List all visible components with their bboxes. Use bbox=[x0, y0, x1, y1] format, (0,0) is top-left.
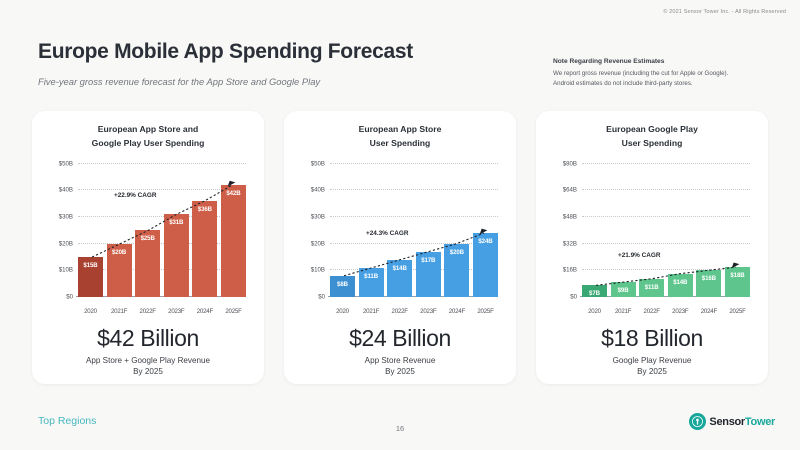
y-axis-tick-label: $0 bbox=[570, 293, 582, 300]
x-axis-tick-label: 2022F bbox=[387, 308, 412, 315]
x-axis-tick-label: 2025F bbox=[473, 308, 498, 315]
bar[interactable]: $25B bbox=[135, 230, 160, 297]
chart-card-title: European App StoreUser Spending bbox=[359, 123, 442, 151]
headline-number: $24 Billion bbox=[349, 325, 451, 352]
bar[interactable]: $36B bbox=[192, 201, 217, 297]
bar-value-label: $25B bbox=[141, 235, 155, 242]
y-axis-tick-label: $64B bbox=[563, 187, 582, 194]
bar-value-label: $15B bbox=[83, 262, 97, 269]
note-line-1: We report gross revenue (including the c… bbox=[553, 69, 793, 79]
y-axis-tick-label: $50B bbox=[311, 160, 330, 167]
chart-card-title-line-2: User Spending bbox=[359, 137, 442, 151]
bar[interactable]: $17B bbox=[416, 252, 441, 297]
chart-card-title-line-1: European App Store and bbox=[92, 123, 205, 137]
y-axis-tick-label: $30B bbox=[59, 214, 78, 221]
bar[interactable]: $7B bbox=[582, 285, 607, 297]
note-title: Note Regarding Revenue Estimates bbox=[553, 58, 793, 65]
bar-value-label: $11B bbox=[645, 284, 659, 291]
sensor-tower-logo: SensorTower bbox=[689, 413, 775, 430]
x-axis-tick-label: 2022F bbox=[639, 308, 664, 315]
cagr-annotation: +24.3% CAGR bbox=[366, 230, 408, 237]
sensor-tower-logo-icon bbox=[689, 413, 706, 430]
bar[interactable]: $14B bbox=[387, 260, 412, 297]
y-axis-tick-label: $20B bbox=[59, 240, 78, 247]
bar[interactable]: $18B bbox=[725, 267, 750, 297]
bar-value-label: $14B bbox=[673, 279, 687, 286]
y-axis-tick-label: $0 bbox=[66, 293, 78, 300]
bar-value-label: $24B bbox=[478, 238, 492, 245]
bar-value-label: $9B bbox=[618, 287, 629, 294]
headline-caption-year: By 2025 bbox=[385, 367, 415, 376]
logo-word-tower: Tower bbox=[745, 416, 775, 428]
cagr-annotation: +22.9% CAGR bbox=[114, 192, 156, 199]
bar[interactable]: $31B bbox=[164, 214, 189, 296]
x-axis-tick-label: 2023F bbox=[668, 308, 693, 315]
chart-plot-area: $0$16B$32B$48B$64B$80B$7B$9B$11B$14B$16B… bbox=[546, 156, 758, 319]
bar[interactable]: $15B bbox=[78, 257, 103, 297]
headline-number: $42 Billion bbox=[97, 325, 199, 352]
bar[interactable]: $20B bbox=[107, 244, 132, 297]
bar[interactable]: $9B bbox=[611, 282, 636, 297]
logo-wordmark: SensorTower bbox=[709, 416, 775, 428]
bar-value-label: $17B bbox=[421, 257, 435, 264]
bar[interactable]: $11B bbox=[359, 268, 384, 297]
revenue-estimates-note: Note Regarding Revenue Estimates We repo… bbox=[553, 58, 793, 89]
bar[interactable]: $11B bbox=[639, 279, 664, 297]
y-axis-tick-label: $16B bbox=[563, 267, 582, 274]
bar-value-label: $20B bbox=[450, 249, 464, 256]
chart-card-list: European App Store andGoogle Play User S… bbox=[32, 111, 768, 384]
chart-card-3: European Google PlayUser Spending$0$16B$… bbox=[536, 111, 768, 384]
x-axis-tick-label: 2021F bbox=[359, 308, 384, 315]
x-axis-tick-label: 2022F bbox=[135, 308, 160, 315]
x-axis-tick-label: 2020 bbox=[78, 308, 103, 315]
chart-plot-area: $0$10B$20B$30B$40B$50B$15B$20B$25B$31B$3… bbox=[42, 156, 254, 319]
page-title: Europe Mobile App Spending Forecast bbox=[38, 40, 413, 64]
x-axis-tick-label: 2025F bbox=[725, 308, 750, 315]
x-axis-tick-label: 2023F bbox=[416, 308, 441, 315]
plot-inner: $0$10B$20B$30B$40B$50B$8B$11B$14B$17B$20… bbox=[330, 164, 498, 297]
note-line-2: Android estimates do not include third-p… bbox=[553, 79, 793, 89]
headline-caption: App Store Revenue bbox=[365, 356, 436, 365]
bar-value-label: $8B bbox=[337, 281, 348, 288]
bar[interactable]: $42B bbox=[221, 185, 246, 297]
y-axis-tick-label: $50B bbox=[59, 160, 78, 167]
y-axis-tick-label: $30B bbox=[311, 214, 330, 221]
chart-card-title-line-2: Google Play User Spending bbox=[92, 137, 205, 151]
headline-caption-year: By 2025 bbox=[637, 367, 667, 376]
bar[interactable]: $8B bbox=[330, 276, 355, 297]
y-axis-tick-label: $10B bbox=[311, 267, 330, 274]
headline-number: $18 Billion bbox=[601, 325, 703, 352]
chart-card-2: European App StoreUser Spending$0$10B$20… bbox=[284, 111, 516, 384]
chart-card-title: European App Store andGoogle Play User S… bbox=[92, 123, 205, 151]
chart-card-1: European App Store andGoogle Play User S… bbox=[32, 111, 264, 384]
bar-value-label: $20B bbox=[112, 249, 126, 256]
bar-value-label: $31B bbox=[169, 219, 183, 226]
cagr-annotation: +21.9% CAGR bbox=[618, 252, 660, 259]
chart-card-title-line-1: European Google Play bbox=[606, 123, 698, 137]
bar[interactable]: $20B bbox=[444, 244, 469, 297]
y-axis-tick-label: $40B bbox=[59, 187, 78, 194]
x-axis-tick-label: 2024F bbox=[192, 308, 217, 315]
headline-caption-year: By 2025 bbox=[133, 367, 163, 376]
y-axis-tick-label: $32B bbox=[563, 240, 582, 247]
x-axis-tick-label: 2020 bbox=[330, 308, 355, 315]
bar-value-label: $42B bbox=[226, 190, 240, 197]
bar-value-label: $18B bbox=[730, 272, 744, 279]
bar-value-label: $7B bbox=[589, 290, 600, 297]
x-axis-labels: 20202021F2022F2023F2024F2025F bbox=[582, 308, 750, 315]
headline-caption: App Store + Google Play Revenue bbox=[86, 356, 210, 365]
copyright-notice: © 2021 Sensor Tower Inc. - All Rights Re… bbox=[663, 9, 786, 15]
x-axis-tick-label: 2023F bbox=[164, 308, 189, 315]
x-axis-labels: 20202021F2022F2023F2024F2025F bbox=[78, 308, 246, 315]
x-axis-tick-label: 2025F bbox=[221, 308, 246, 315]
logo-word-sensor: Sensor bbox=[709, 416, 745, 428]
bar-value-label: $16B bbox=[702, 275, 716, 282]
slide-root: © 2021 Sensor Tower Inc. - All Rights Re… bbox=[0, 0, 800, 450]
headline-caption: Google Play Revenue bbox=[613, 356, 692, 365]
bar-value-label: $36B bbox=[198, 206, 212, 213]
bar-value-label: $11B bbox=[364, 273, 378, 280]
page-number: 16 bbox=[0, 424, 800, 433]
y-axis-tick-label: $80B bbox=[563, 160, 582, 167]
x-axis-tick-label: 2024F bbox=[444, 308, 469, 315]
plot-inner: $0$10B$20B$30B$40B$50B$15B$20B$25B$31B$3… bbox=[78, 164, 246, 297]
chart-card-title: European Google PlayUser Spending bbox=[606, 123, 698, 151]
bar-group: $15B$20B$25B$31B$36B$42B bbox=[78, 164, 246, 297]
bar-group: $7B$9B$11B$14B$16B$18B bbox=[582, 164, 750, 297]
bar-value-label: $14B bbox=[393, 265, 407, 272]
bar-group: $8B$11B$14B$17B$20B$24B bbox=[330, 164, 498, 297]
y-axis-tick-label: $48B bbox=[563, 214, 582, 221]
y-axis-tick-label: $20B bbox=[311, 240, 330, 247]
bar[interactable]: $14B bbox=[668, 274, 693, 297]
y-axis-tick-label: $0 bbox=[318, 293, 330, 300]
x-axis-tick-label: 2020 bbox=[582, 308, 607, 315]
y-axis-tick-label: $40B bbox=[311, 187, 330, 194]
chart-plot-area: $0$10B$20B$30B$40B$50B$8B$11B$14B$17B$20… bbox=[294, 156, 506, 319]
x-axis-tick-label: 2024F bbox=[696, 308, 721, 315]
bar[interactable]: $24B bbox=[473, 233, 498, 297]
bar[interactable]: $16B bbox=[696, 270, 721, 297]
x-axis-labels: 20202021F2022F2023F2024F2025F bbox=[330, 308, 498, 315]
page-subtitle: Five-year gross revenue forecast for the… bbox=[38, 76, 320, 87]
chart-card-title-line-1: European App Store bbox=[359, 123, 442, 137]
y-axis-tick-label: $10B bbox=[59, 267, 78, 274]
x-axis-tick-label: 2021F bbox=[611, 308, 636, 315]
chart-card-title-line-2: User Spending bbox=[606, 137, 698, 151]
plot-inner: $0$16B$32B$48B$64B$80B$7B$9B$11B$14B$16B… bbox=[582, 164, 750, 297]
x-axis-tick-label: 2021F bbox=[107, 308, 132, 315]
